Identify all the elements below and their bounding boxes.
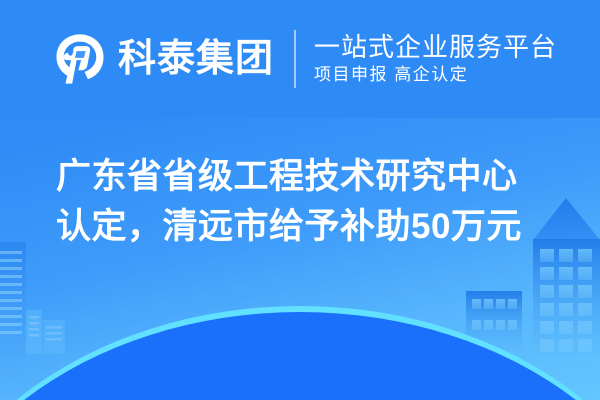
tagline-block: 一站式企业服务平台 项目申报 高企认定 (314, 33, 557, 85)
page-title: 广东省省级工程技术研究中心认定，清远市给予补助50万元 (56, 152, 548, 251)
tagline-main: 一站式企业服务平台 (314, 33, 557, 62)
header-divider (294, 30, 296, 88)
tagline-sub: 项目申报 高企认定 (314, 65, 557, 85)
banner-header: 科泰集团 一站式企业服务平台 项目申报 高企认定 (0, 0, 600, 118)
ketai-circle-r-logo-icon (52, 31, 108, 87)
promo-banner: 科泰集团 一站式企业服务平台 项目申报 高企认定 广东省省级工程技术研究中心认定… (0, 0, 600, 400)
brand-name: 科泰集团 (118, 40, 274, 78)
